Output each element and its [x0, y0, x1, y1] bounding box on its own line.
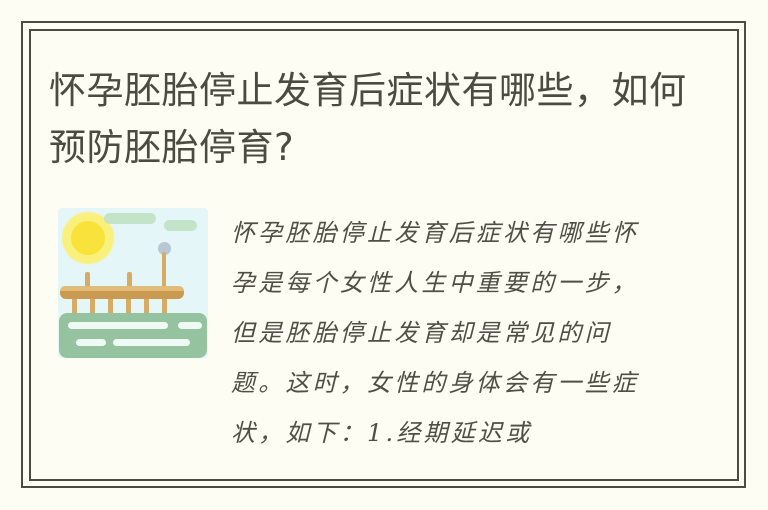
pier-deck-highlight	[60, 286, 184, 291]
pier-illustration	[58, 208, 208, 358]
wave-line	[68, 322, 168, 329]
water-surface	[59, 313, 207, 358]
cloud-icon	[164, 220, 197, 231]
wave-line	[113, 339, 190, 346]
wave-line	[76, 339, 106, 346]
article-card: 怀孕胚胎停止发育后症状有哪些，如何预防胚胎停育? 怀孕胚胎停止发育后症状有哪些怀…	[0, 0, 768, 510]
cloud-icon	[104, 213, 156, 224]
page-title: 怀孕胚胎停止发育后症状有哪些，如何预防胚胎停育?	[49, 62, 709, 176]
sun-icon	[71, 221, 105, 255]
article-body: 怀孕胚胎停止发育后症状有哪些怀孕是每个女性人生中重要的一步，但是胚胎停止发育却是…	[231, 208, 663, 458]
wave-line	[178, 322, 202, 329]
